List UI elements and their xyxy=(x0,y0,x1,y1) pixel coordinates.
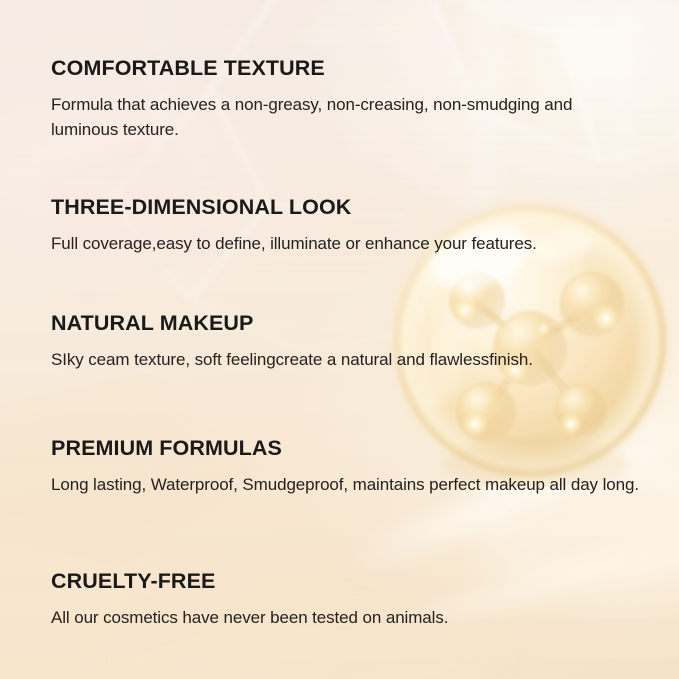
feature-block: PREMIUM FORMULAS Long lasting, Waterproo… xyxy=(51,437,651,497)
feature-block: CRUELTY-FREE All our cosmetics have neve… xyxy=(51,570,651,630)
feature-block: COMFORTABLE TEXTURE Formula that achieve… xyxy=(51,57,651,142)
feature-description: SIky ceam texture, soft feelingcreate a … xyxy=(51,347,643,372)
feature-title: CRUELTY-FREE xyxy=(51,570,651,594)
feature-description: Full coverage,easy to define, illuminate… xyxy=(51,231,643,256)
feature-title: NATURAL MAKEUP xyxy=(51,312,651,336)
feature-block: THREE-DIMENSIONAL LOOK Full coverage,eas… xyxy=(51,196,651,256)
feature-block: NATURAL MAKEUP SIky ceam texture, soft f… xyxy=(51,312,651,372)
feature-description: Long lasting, Waterproof, Smudgeproof, m… xyxy=(51,472,643,497)
feature-title: PREMIUM FORMULAS xyxy=(51,437,651,461)
feature-title: THREE-DIMENSIONAL LOOK xyxy=(51,196,651,220)
feature-description: All our cosmetics have never been tested… xyxy=(51,605,643,630)
product-feature-panel: COMFORTABLE TEXTURE Formula that achieve… xyxy=(0,0,679,679)
feature-title: COMFORTABLE TEXTURE xyxy=(51,57,651,81)
feature-list: COMFORTABLE TEXTURE Formula that achieve… xyxy=(0,0,679,679)
feature-description: Formula that achieves a non-greasy, non-… xyxy=(51,92,643,142)
